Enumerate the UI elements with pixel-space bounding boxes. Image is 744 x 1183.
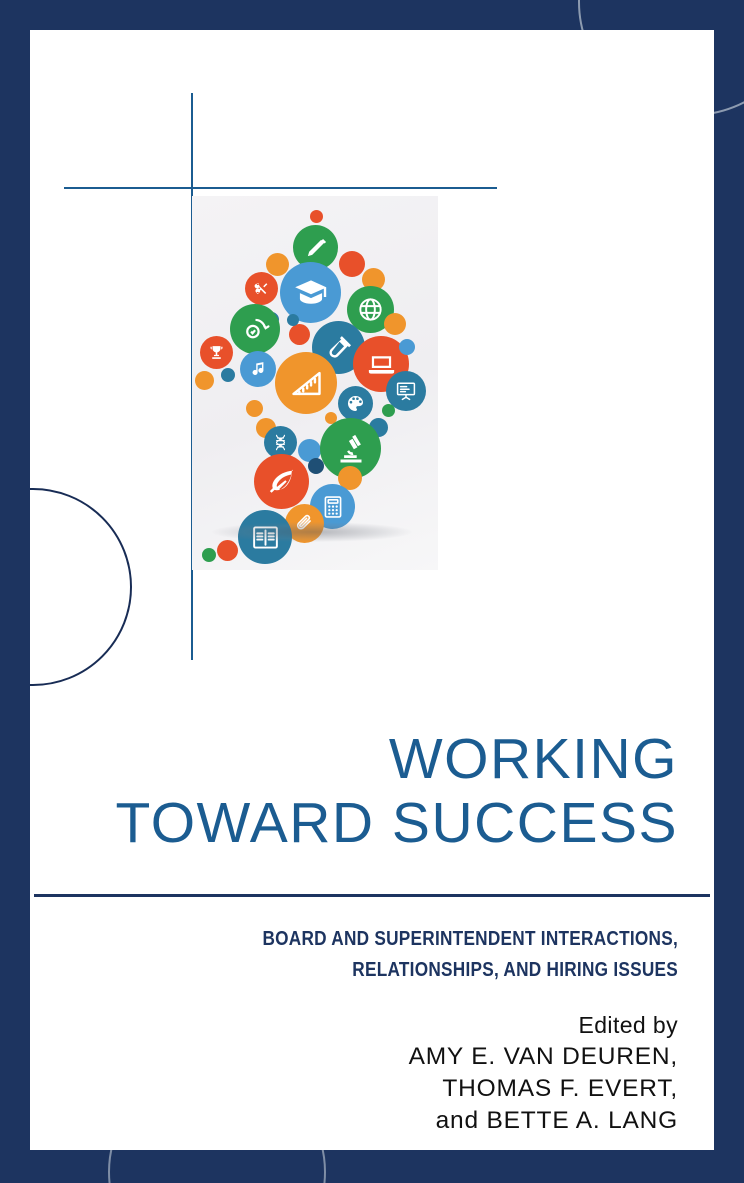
accent-dot-red-tip	[310, 210, 323, 223]
accent-dot-blue-mid	[287, 314, 299, 326]
accent-dot-orange-far-left	[195, 371, 214, 390]
edited-by-label: Edited by	[58, 1010, 678, 1041]
quill-icon	[254, 454, 309, 509]
icon-arrow-collage	[192, 196, 438, 570]
music-note-icon	[240, 351, 276, 387]
book-authors: Edited by AMY E. VAN DEUREN, THOMAS F. E…	[58, 1010, 678, 1138]
accent-dot-orange-lower-left	[246, 400, 263, 417]
palette-icon	[338, 386, 373, 421]
author-line-1: AMY E. VAN DEUREN,	[58, 1041, 678, 1073]
book-cover: WORKING TOWARD SUCCESS BOARD AND SUPERIN…	[0, 0, 744, 1183]
trophy-icon	[200, 336, 233, 369]
accent-dot-blue-left	[221, 368, 235, 382]
title-line-2: TOWARD SUCCESS	[78, 794, 678, 852]
author-line-3: and BETTE A. LANG	[58, 1105, 678, 1137]
ruler-triangle-icon	[275, 352, 337, 414]
accent-dot-orange-left	[266, 253, 289, 276]
illustration-shadow	[212, 522, 412, 542]
book-subtitle: BOARD AND SUPERINTENDENT INTERACTIONS, R…	[58, 924, 678, 986]
accent-dot-blue-mid-right	[399, 339, 415, 355]
atom-icon	[230, 304, 280, 354]
title-line-1: WORKING	[78, 730, 678, 788]
accent-dot-red-mid	[289, 324, 310, 345]
book-title: WORKING TOWARD SUCCESS	[78, 730, 678, 852]
cover-white-panel: WORKING TOWARD SUCCESS BOARD AND SUPERIN…	[30, 30, 714, 1150]
accent-dot-navy-small	[308, 458, 324, 474]
accent-dot-red-bottom	[217, 540, 238, 561]
subtitle-line-2: RELATIONSHIPS, AND HIRING ISSUES	[157, 955, 678, 986]
subtitle-line-1: BOARD AND SUPERINTENDENT INTERACTIONS,	[157, 924, 678, 955]
accent-dot-orange-mid-right	[384, 313, 406, 335]
decorative-circle-mid-left	[30, 488, 132, 686]
scissors-icon	[245, 272, 278, 305]
title-divider	[34, 894, 710, 897]
horizontal-rule	[64, 187, 497, 189]
cover-illustration	[192, 196, 438, 570]
accent-dot-red-right	[339, 251, 365, 277]
accent-dot-green-right	[382, 404, 395, 417]
accent-dot-green-bottom	[202, 548, 216, 562]
author-line-2: THOMAS F. EVERT,	[58, 1073, 678, 1105]
